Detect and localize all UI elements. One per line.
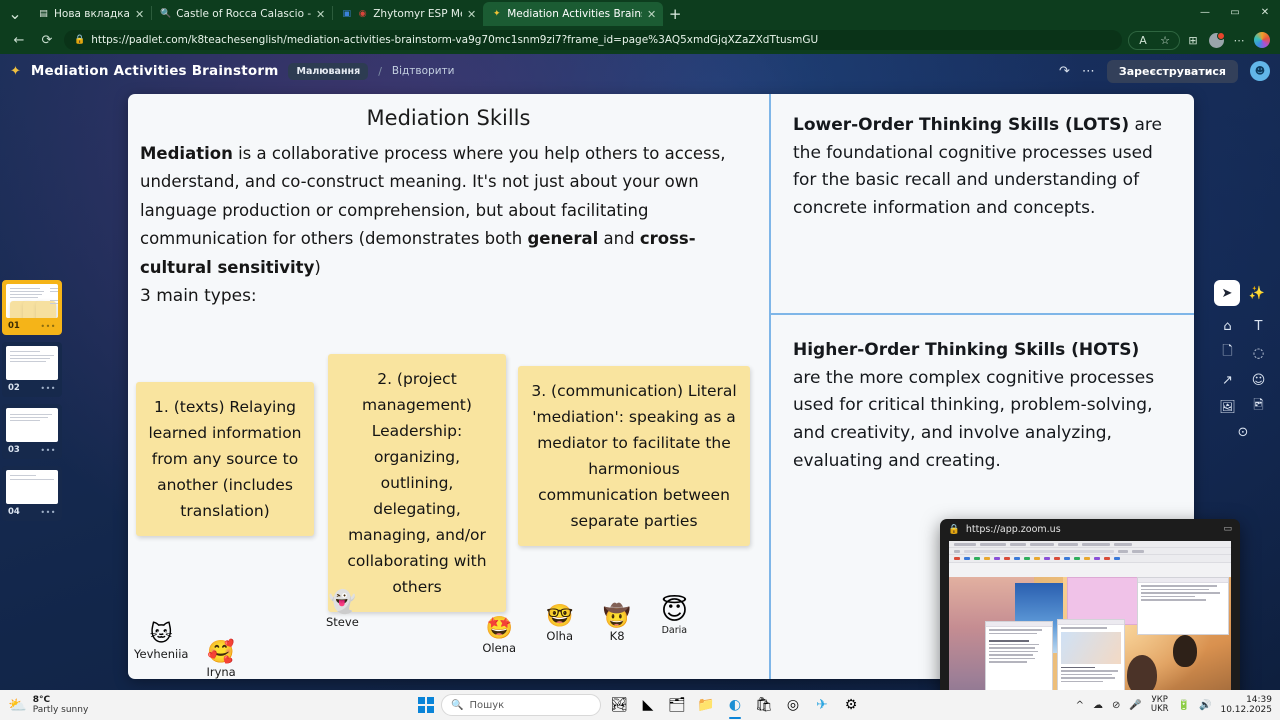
slide-3-number: 03 bbox=[8, 445, 20, 455]
reaction-yevheniia-name: Yevheniia bbox=[134, 647, 188, 661]
reaction-olena[interactable]: 🤩 Olena bbox=[482, 618, 516, 655]
main-types-label: 3 main types: bbox=[140, 286, 757, 306]
mediation-intro-bold-a: general bbox=[527, 229, 598, 248]
play-button[interactable]: Відтворити bbox=[392, 65, 455, 77]
slide-thumbnail-4[interactable]: 04 ••• bbox=[2, 466, 62, 521]
weather-temperature: 8°C bbox=[33, 695, 89, 705]
magic-wand-icon[interactable]: ✨ bbox=[1244, 280, 1270, 306]
settings-more-icon[interactable]: ⋯ bbox=[1229, 30, 1249, 50]
file-explorer-icon[interactable]: 🗂 bbox=[666, 694, 688, 716]
clock[interactable]: 14:39 10.12.2025 bbox=[1220, 695, 1272, 716]
arrow-icon[interactable]: ↗ bbox=[1212, 368, 1243, 392]
widget-icon[interactable]: ◣ bbox=[637, 694, 659, 716]
sticky-1-reaction-row: 🐱 Yevheniia 🥰 Iryna bbox=[134, 624, 236, 679]
onedrive-sync-icon[interactable]: ☁ bbox=[1093, 700, 1103, 711]
halo-face-icon: 😇 bbox=[661, 598, 688, 624]
windows-start-icon[interactable] bbox=[418, 697, 434, 713]
sticky-note-3[interactable]: 3. (communication) Literal 'mediation': … bbox=[518, 366, 750, 546]
cowboy-hat-face-icon: 🤠 bbox=[603, 606, 630, 628]
add-image-icon[interactable]: 🖻 bbox=[1243, 395, 1274, 419]
address-bar-url: https://padlet.com/k8teachesenglish/medi… bbox=[91, 34, 818, 46]
photos-icon[interactable]: 🏞 bbox=[608, 694, 630, 716]
omnibar-actions: A ☆ ⊞ ⋯ bbox=[1128, 30, 1272, 50]
system-tray: ^ ☁ ⊘ 🎤 УКР UKR 🔋 🔊 14:39 10.12.2025 bbox=[1076, 695, 1272, 716]
read-aloud-icon[interactable]: A bbox=[1133, 30, 1153, 50]
lock-icon: 🔒 bbox=[948, 524, 960, 535]
windows-taskbar: ⛅ 8°C Partly sunny 🔍 Пошук 🏞 ◣ 🗂 📁 ◐ 🛍 ◎… bbox=[0, 690, 1280, 720]
pip-browser-tabstrip bbox=[949, 541, 1231, 548]
board-left-pane: Mediation Skills Mediation is a collabor… bbox=[128, 94, 769, 679]
settings-icon[interactable]: ⚙ bbox=[840, 694, 862, 716]
language-bottom: UKR bbox=[1151, 705, 1169, 714]
star-struck-icon: 🤩 bbox=[485, 618, 512, 640]
reaction-steve[interactable]: 👻 Steve bbox=[326, 592, 359, 629]
slide-thumbnail-4-preview bbox=[6, 470, 58, 504]
record-icon: ◉ bbox=[357, 9, 368, 20]
text-tool-icon[interactable]: T bbox=[1243, 314, 1274, 338]
weather-condition: Partly sunny bbox=[33, 705, 89, 715]
shape-icon[interactable]: ◌ bbox=[1243, 341, 1274, 365]
reaction-daria-name: Daria bbox=[662, 625, 688, 636]
pip-doc-window-1 bbox=[985, 621, 1053, 690]
slide-thumbnail-2[interactable]: 02 ••• bbox=[2, 342, 62, 397]
slide-3-meta: 03 ••• bbox=[4, 444, 60, 457]
sticker-icon[interactable]: ☺ bbox=[1243, 368, 1274, 392]
smiling-hearts-icon: 🥰 bbox=[207, 642, 234, 664]
padlet-mode-chip[interactable]: Малювання bbox=[288, 63, 368, 80]
pip-doc-window-3 bbox=[1137, 577, 1229, 635]
profile-icon[interactable] bbox=[1206, 30, 1226, 50]
more-icon[interactable]: ⋯ bbox=[1082, 64, 1095, 79]
maximize-button[interactable]: ▭ bbox=[1220, 0, 1250, 26]
search-icon: 🔍 bbox=[451, 700, 463, 711]
search-icon: 🔍 bbox=[160, 9, 171, 20]
slide-thumbnail-2-preview bbox=[6, 346, 58, 380]
pip-shared-screen bbox=[949, 541, 1231, 690]
browser-tab-2-label: Castle of Rocca Calascio - Пошук bbox=[176, 8, 311, 20]
mediation-intro-paragraph: Mediation is a collaborative process whe… bbox=[140, 140, 757, 282]
pip-doc-window-2 bbox=[1057, 619, 1125, 690]
padlet-app: ✦ Mediation Activities Brainstorm Малюва… bbox=[0, 54, 1280, 690]
padlet-header: ✦ Mediation Activities Brainstorm Малюва… bbox=[0, 54, 1280, 88]
tab-search-chevron-icon[interactable]: ⌄ bbox=[0, 0, 30, 26]
image-icon[interactable]: 🖼 bbox=[1212, 395, 1243, 419]
slide-3-menu-icon[interactable]: ••• bbox=[40, 446, 56, 455]
share-icon[interactable]: ↷ bbox=[1059, 64, 1070, 79]
weather-widget[interactable]: ⛅ 8°C Partly sunny bbox=[8, 695, 88, 716]
pip-classroom-image bbox=[949, 577, 1231, 690]
slide-2-meta: 02 ••• bbox=[4, 382, 60, 395]
browser-tab-strip: ⌄ ▤ Нова вкладка ✕ 🔍 Castle of Rocca Cal… bbox=[0, 0, 1280, 26]
pip-browser-omnibar bbox=[949, 548, 1231, 555]
language-indicator[interactable]: УКР UKR bbox=[1151, 696, 1169, 714]
slide-1-number: 01 bbox=[8, 321, 20, 331]
nerd-face-icon: 🤓 bbox=[546, 606, 573, 628]
back-button[interactable]: ← bbox=[8, 29, 30, 51]
search-input[interactable]: 🔍 Пошук bbox=[441, 694, 601, 716]
window-controls: — ▭ ✕ bbox=[1190, 0, 1280, 26]
reaction-yevheniia[interactable]: 🐱 Yevheniia bbox=[134, 624, 188, 661]
sticky-note-1[interactable]: 1. (texts) Relaying learned information … bbox=[136, 382, 314, 536]
meet-icon: ▣ bbox=[341, 9, 352, 20]
new-tab-button[interactable]: + bbox=[663, 2, 687, 26]
telegram-icon[interactable]: ✈ bbox=[811, 694, 833, 716]
sticky-3-reaction-row: 🤓 Olha 🤠 K8 😇 Daria bbox=[546, 606, 688, 643]
slide-1-menu-icon[interactable]: ••• bbox=[40, 322, 56, 331]
browser-tab-3[interactable]: ▣ ◉ Zhytomyr ESP Methodologi ✕ bbox=[333, 2, 483, 26]
reaction-steve-name: Steve bbox=[326, 615, 359, 629]
favorite-icon[interactable]: ☆ bbox=[1155, 30, 1175, 50]
padlet-icon: ✦ bbox=[491, 9, 502, 20]
pip-bookmarks-bar bbox=[949, 555, 1231, 563]
reaction-iryna[interactable]: 🥰 Iryna bbox=[206, 642, 235, 679]
browser-tab-4-close-icon[interactable]: ✕ bbox=[647, 8, 656, 21]
close-window-button[interactable]: ✕ bbox=[1250, 0, 1280, 26]
battery-icon[interactable]: 🔋 bbox=[1178, 700, 1190, 711]
address-actions-pill: A ☆ bbox=[1128, 31, 1180, 50]
browser-tab-1-label: Нова вкладка bbox=[54, 8, 130, 20]
volume-icon[interactable]: 🔊 bbox=[1199, 700, 1211, 711]
slide-4-meta: 04 ••• bbox=[4, 506, 60, 519]
reaction-k8[interactable]: 🤠 K8 bbox=[603, 606, 630, 643]
avatar-icon[interactable]: ☻ bbox=[1250, 61, 1270, 81]
slide-thumbnail-1[interactable]: 01 ••• bbox=[2, 280, 62, 335]
signup-button[interactable]: Зареєструватися bbox=[1107, 60, 1238, 83]
no-network-icon[interactable]: ⊘ bbox=[1112, 700, 1120, 711]
reaction-iryna-name: Iryna bbox=[206, 665, 235, 679]
pip-pink-note bbox=[1067, 577, 1142, 625]
pip-url: https://app.zoom.us bbox=[966, 524, 1061, 535]
board-section-title: Mediation Skills bbox=[128, 106, 769, 130]
browser-tab-4[interactable]: ✦ Mediation Activities Brainstorm ✕ bbox=[483, 2, 663, 26]
partly-sunny-icon: ⛅ bbox=[8, 696, 27, 714]
hots-heading: Higher-Order Thinking Skills (HOTS) bbox=[793, 340, 1139, 360]
toolbar-top-row: ➤ ✨ bbox=[1212, 278, 1274, 308]
padlet-header-actions: ↷ ⋯ Зареєструватися ☻ bbox=[1059, 60, 1270, 83]
padlet-title: Mediation Activities Brainstorm bbox=[31, 63, 279, 79]
browser-tab-1[interactable]: ▤ Нова вкладка ✕ bbox=[30, 2, 151, 26]
microphone-icon[interactable]: 🎤 bbox=[1129, 700, 1141, 711]
sticky-note-2[interactable]: 2. (project management) Leadership: orga… bbox=[328, 354, 506, 612]
collections-icon[interactable]: ⊞ bbox=[1183, 30, 1203, 50]
clock-time: 14:39 bbox=[1220, 695, 1272, 705]
slides-sidebar: 01 ••• 02 ••• bbox=[2, 280, 64, 528]
reaction-olha-name: Olha bbox=[546, 629, 573, 643]
microsoft-store-icon[interactable]: 📁 bbox=[695, 694, 717, 716]
more-tools-icon[interactable]: ⊙ bbox=[1212, 423, 1274, 440]
edge-icon[interactable]: ◐ bbox=[724, 694, 746, 716]
hots-body: are the more complex cognitive processes… bbox=[793, 368, 1154, 471]
note-icon[interactable]: 🗋 bbox=[1212, 341, 1243, 365]
lots-heading: Lower-Order Thinking Skills (LOTS) bbox=[793, 115, 1129, 135]
browser-tab-1-close-icon[interactable]: ✕ bbox=[135, 8, 144, 21]
slide-thumbnail-1-preview bbox=[6, 284, 58, 318]
taskbar-center: 🔍 Пошук 🏞 ◣ 🗂 📁 ◐ 🛍 ◎ ✈ ⚙ bbox=[418, 694, 862, 716]
slide-2-number: 02 bbox=[8, 383, 20, 393]
browser-tab-4-label: Mediation Activities Brainstorm bbox=[507, 8, 642, 20]
search-placeholder: Пошук bbox=[469, 700, 504, 711]
sparkle-icon: ✦ bbox=[10, 64, 21, 79]
hots-block: Higher-Order Thinking Skills (HOTS) are … bbox=[771, 319, 1194, 476]
browser-tab-3-close-icon[interactable]: ✕ bbox=[467, 8, 476, 21]
lots-paragraph: Lower-Order Thinking Skills (LOTS) are t… bbox=[771, 94, 1194, 223]
tray-chevron-icon[interactable]: ^ bbox=[1076, 700, 1084, 711]
pip-menu-icon[interactable]: ▭ bbox=[1223, 524, 1232, 534]
clock-date: 10.12.2025 bbox=[1220, 705, 1272, 715]
toolbar-grid: ⌂ T 🗋 ◌ ↗ ☺ 🖼 🖻 bbox=[1212, 308, 1274, 423]
cat-face-icon: 🐱 bbox=[150, 624, 173, 646]
browser-tab-3-label: Zhytomyr ESP Methodologi bbox=[373, 8, 462, 20]
store-bag-icon[interactable]: 🛍 bbox=[753, 694, 775, 716]
header-separator: / bbox=[378, 65, 382, 78]
minimize-button[interactable]: — bbox=[1190, 0, 1220, 26]
screen: ⌄ ▤ Нова вкладка ✕ 🔍 Castle of Rocca Cal… bbox=[0, 0, 1280, 720]
copilot-icon[interactable] bbox=[1252, 30, 1272, 50]
reaction-daria[interactable]: 😇 Daria bbox=[661, 598, 688, 636]
slide-thumbnail-3[interactable]: 03 ••• bbox=[2, 404, 62, 459]
hots-paragraph: Higher-Order Thinking Skills (HOTS) are … bbox=[771, 319, 1194, 476]
tools-toolbar: ➤ ✨ ⌂ T 🗋 ◌ ↗ ☺ 🖼 🖻 ⊙ bbox=[1212, 278, 1274, 440]
mediation-intro-lead: Mediation bbox=[140, 144, 233, 163]
mediation-intro-mid: and bbox=[598, 229, 640, 248]
refresh-button[interactable]: ⟳ bbox=[36, 29, 58, 51]
slide-4-menu-icon[interactable]: ••• bbox=[40, 508, 56, 517]
sticky-2-reaction-row: 👻 Steve 🤩 Olena bbox=[326, 592, 516, 655]
slide-4-number: 04 bbox=[8, 507, 20, 517]
draw-pen-icon[interactable]: ⌂ bbox=[1212, 314, 1243, 338]
reaction-k8-name: K8 bbox=[610, 629, 625, 643]
page-icon: ▤ bbox=[38, 9, 49, 20]
lock-icon: 🔒 bbox=[74, 35, 85, 45]
chrome-icon[interactable]: ◎ bbox=[782, 694, 804, 716]
ghost-icon: 👻 bbox=[329, 592, 356, 614]
slide-2-menu-icon[interactable]: ••• bbox=[40, 384, 56, 393]
mediation-intro-end: ) bbox=[314, 258, 320, 277]
zoom-pip-window[interactable]: 🔒 https://app.zoom.us ▭ bbox=[940, 519, 1240, 690]
reaction-olha[interactable]: 🤓 Olha bbox=[546, 606, 573, 643]
cursor-select-icon[interactable]: ➤ bbox=[1214, 280, 1240, 306]
address-bar[interactable]: 🔒 https://padlet.com/k8teachesenglish/me… bbox=[64, 30, 1122, 50]
browser-tab-2-close-icon[interactable]: ✕ bbox=[316, 8, 325, 21]
browser-tab-2[interactable]: 🔍 Castle of Rocca Calascio - Пошук ✕ bbox=[152, 2, 332, 26]
slide-thumbnail-3-preview bbox=[6, 408, 58, 442]
reaction-olena-name: Olena bbox=[482, 641, 516, 655]
slide-1-meta: 01 ••• bbox=[4, 320, 60, 333]
browser-omnibar: ← ⟳ 🔒 https://padlet.com/k8teachesenglis… bbox=[0, 26, 1280, 54]
pip-title-bar: 🔒 https://app.zoom.us ▭ bbox=[940, 519, 1240, 539]
